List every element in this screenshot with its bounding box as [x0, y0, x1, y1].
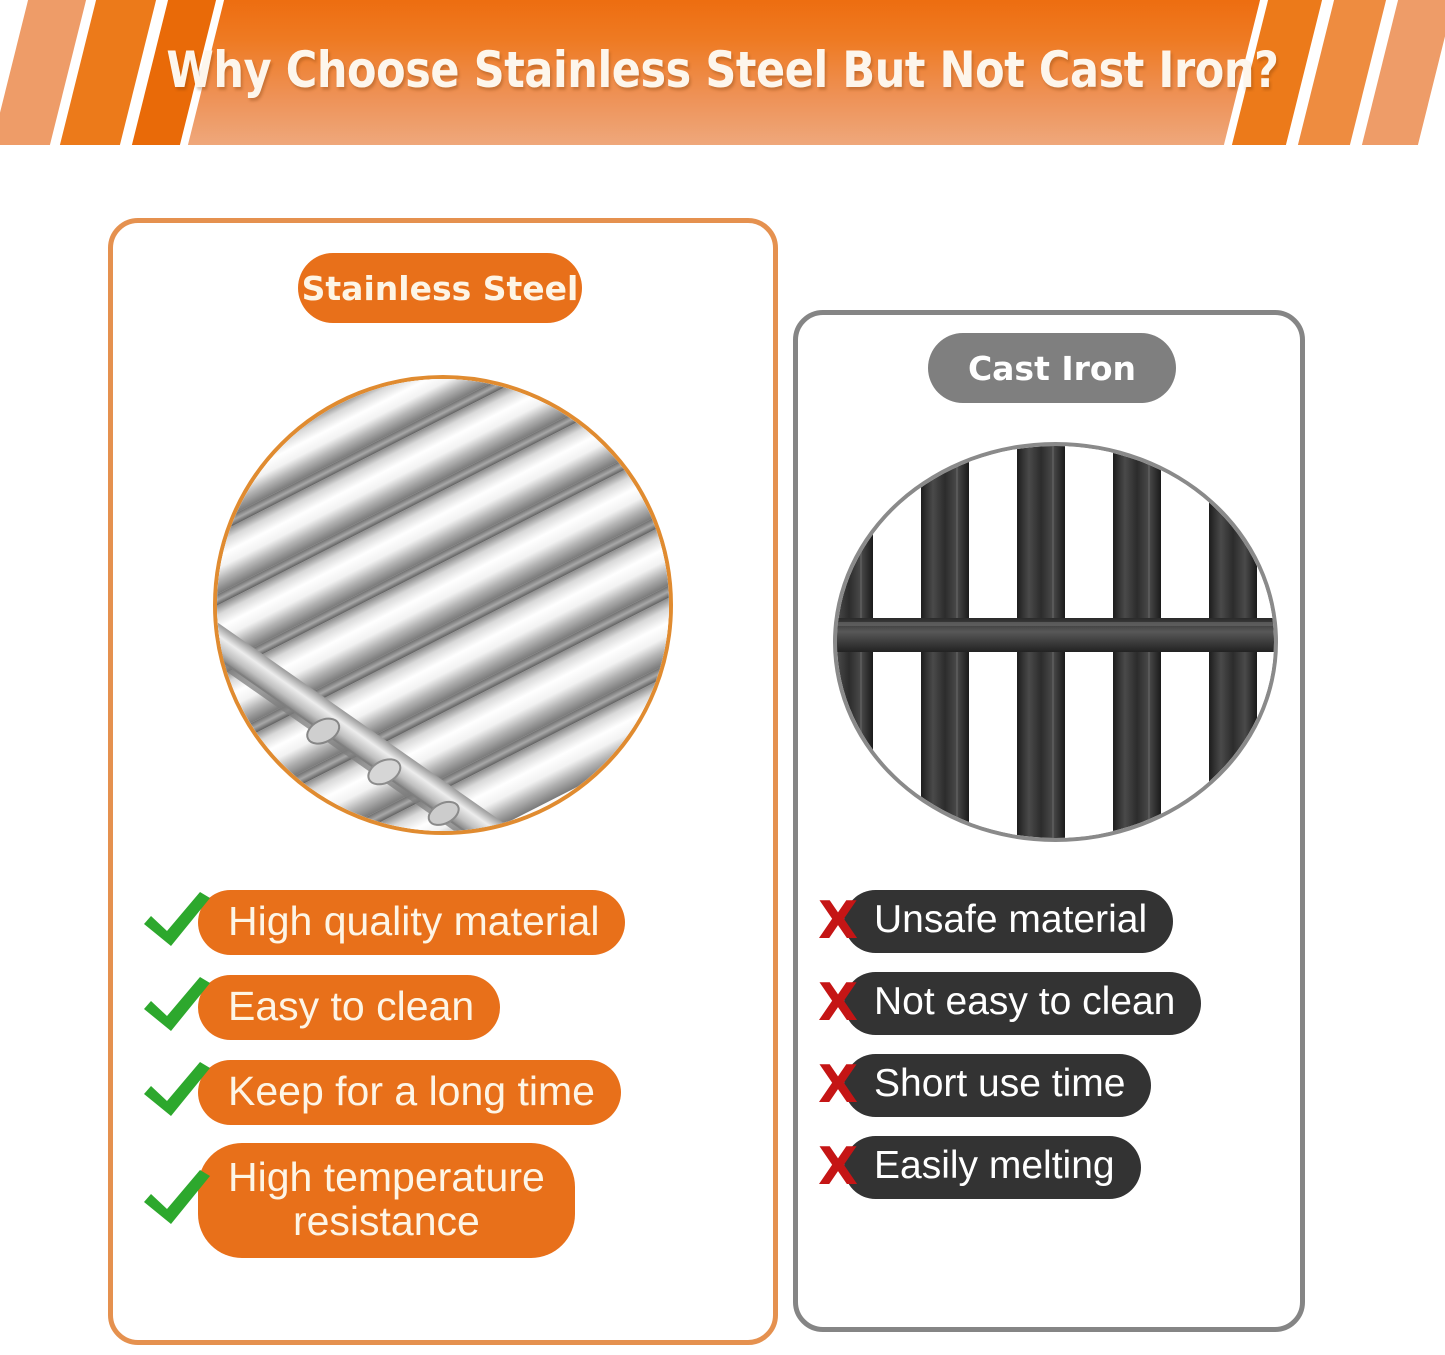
feature-row: High quality material: [140, 888, 740, 957]
feature-row: Easy to clean: [140, 973, 740, 1042]
feature-row: X Short use time: [812, 1054, 1292, 1117]
red-x-icon: X: [812, 1139, 864, 1195]
cast-iron-badge: Cast Iron: [928, 333, 1176, 403]
feature-pill: Easy to clean: [198, 975, 500, 1040]
feature-pill: Not easy to clean: [844, 972, 1201, 1035]
green-check-icon: [140, 1166, 198, 1235]
feature-pill: High temperature resistance: [198, 1143, 575, 1258]
stainless-steel-grate-illustration: [217, 379, 669, 831]
red-x-icon: X: [812, 893, 864, 949]
feature-pill: Easily melting: [844, 1136, 1141, 1199]
red-x-icon: X: [812, 1057, 864, 1113]
green-check-icon: [140, 1058, 198, 1127]
feature-row: High temperature resistance: [140, 1143, 740, 1258]
header-banner: [0, 0, 1445, 145]
stainless-steel-photo: [213, 375, 673, 835]
feature-pill: Unsafe material: [844, 890, 1173, 953]
stainless-steel-badge: Stainless Steel: [298, 253, 582, 323]
feature-row: Keep for a long time: [140, 1058, 740, 1127]
feature-row: X Not easy to clean: [812, 972, 1292, 1035]
feature-pill: Keep for a long time: [198, 1060, 621, 1125]
green-check-icon: [140, 973, 198, 1042]
stainless-steel-feature-list: High quality material Easy to clean Keep…: [140, 888, 740, 1274]
feature-row: X Easily melting: [812, 1136, 1292, 1199]
cast-iron-grate-illustration: [837, 446, 1274, 838]
banner-main-body: [185, 0, 1262, 145]
cast-iron-photo: [833, 442, 1278, 842]
feature-row: X Unsafe material: [812, 890, 1292, 953]
green-check-icon: [140, 888, 198, 957]
feature-pill: High quality material: [198, 890, 625, 955]
red-x-icon: X: [812, 975, 864, 1031]
cast-iron-feature-list: X Unsafe material X Not easy to clean X …: [812, 890, 1292, 1218]
feature-pill: Short use time: [844, 1054, 1151, 1117]
